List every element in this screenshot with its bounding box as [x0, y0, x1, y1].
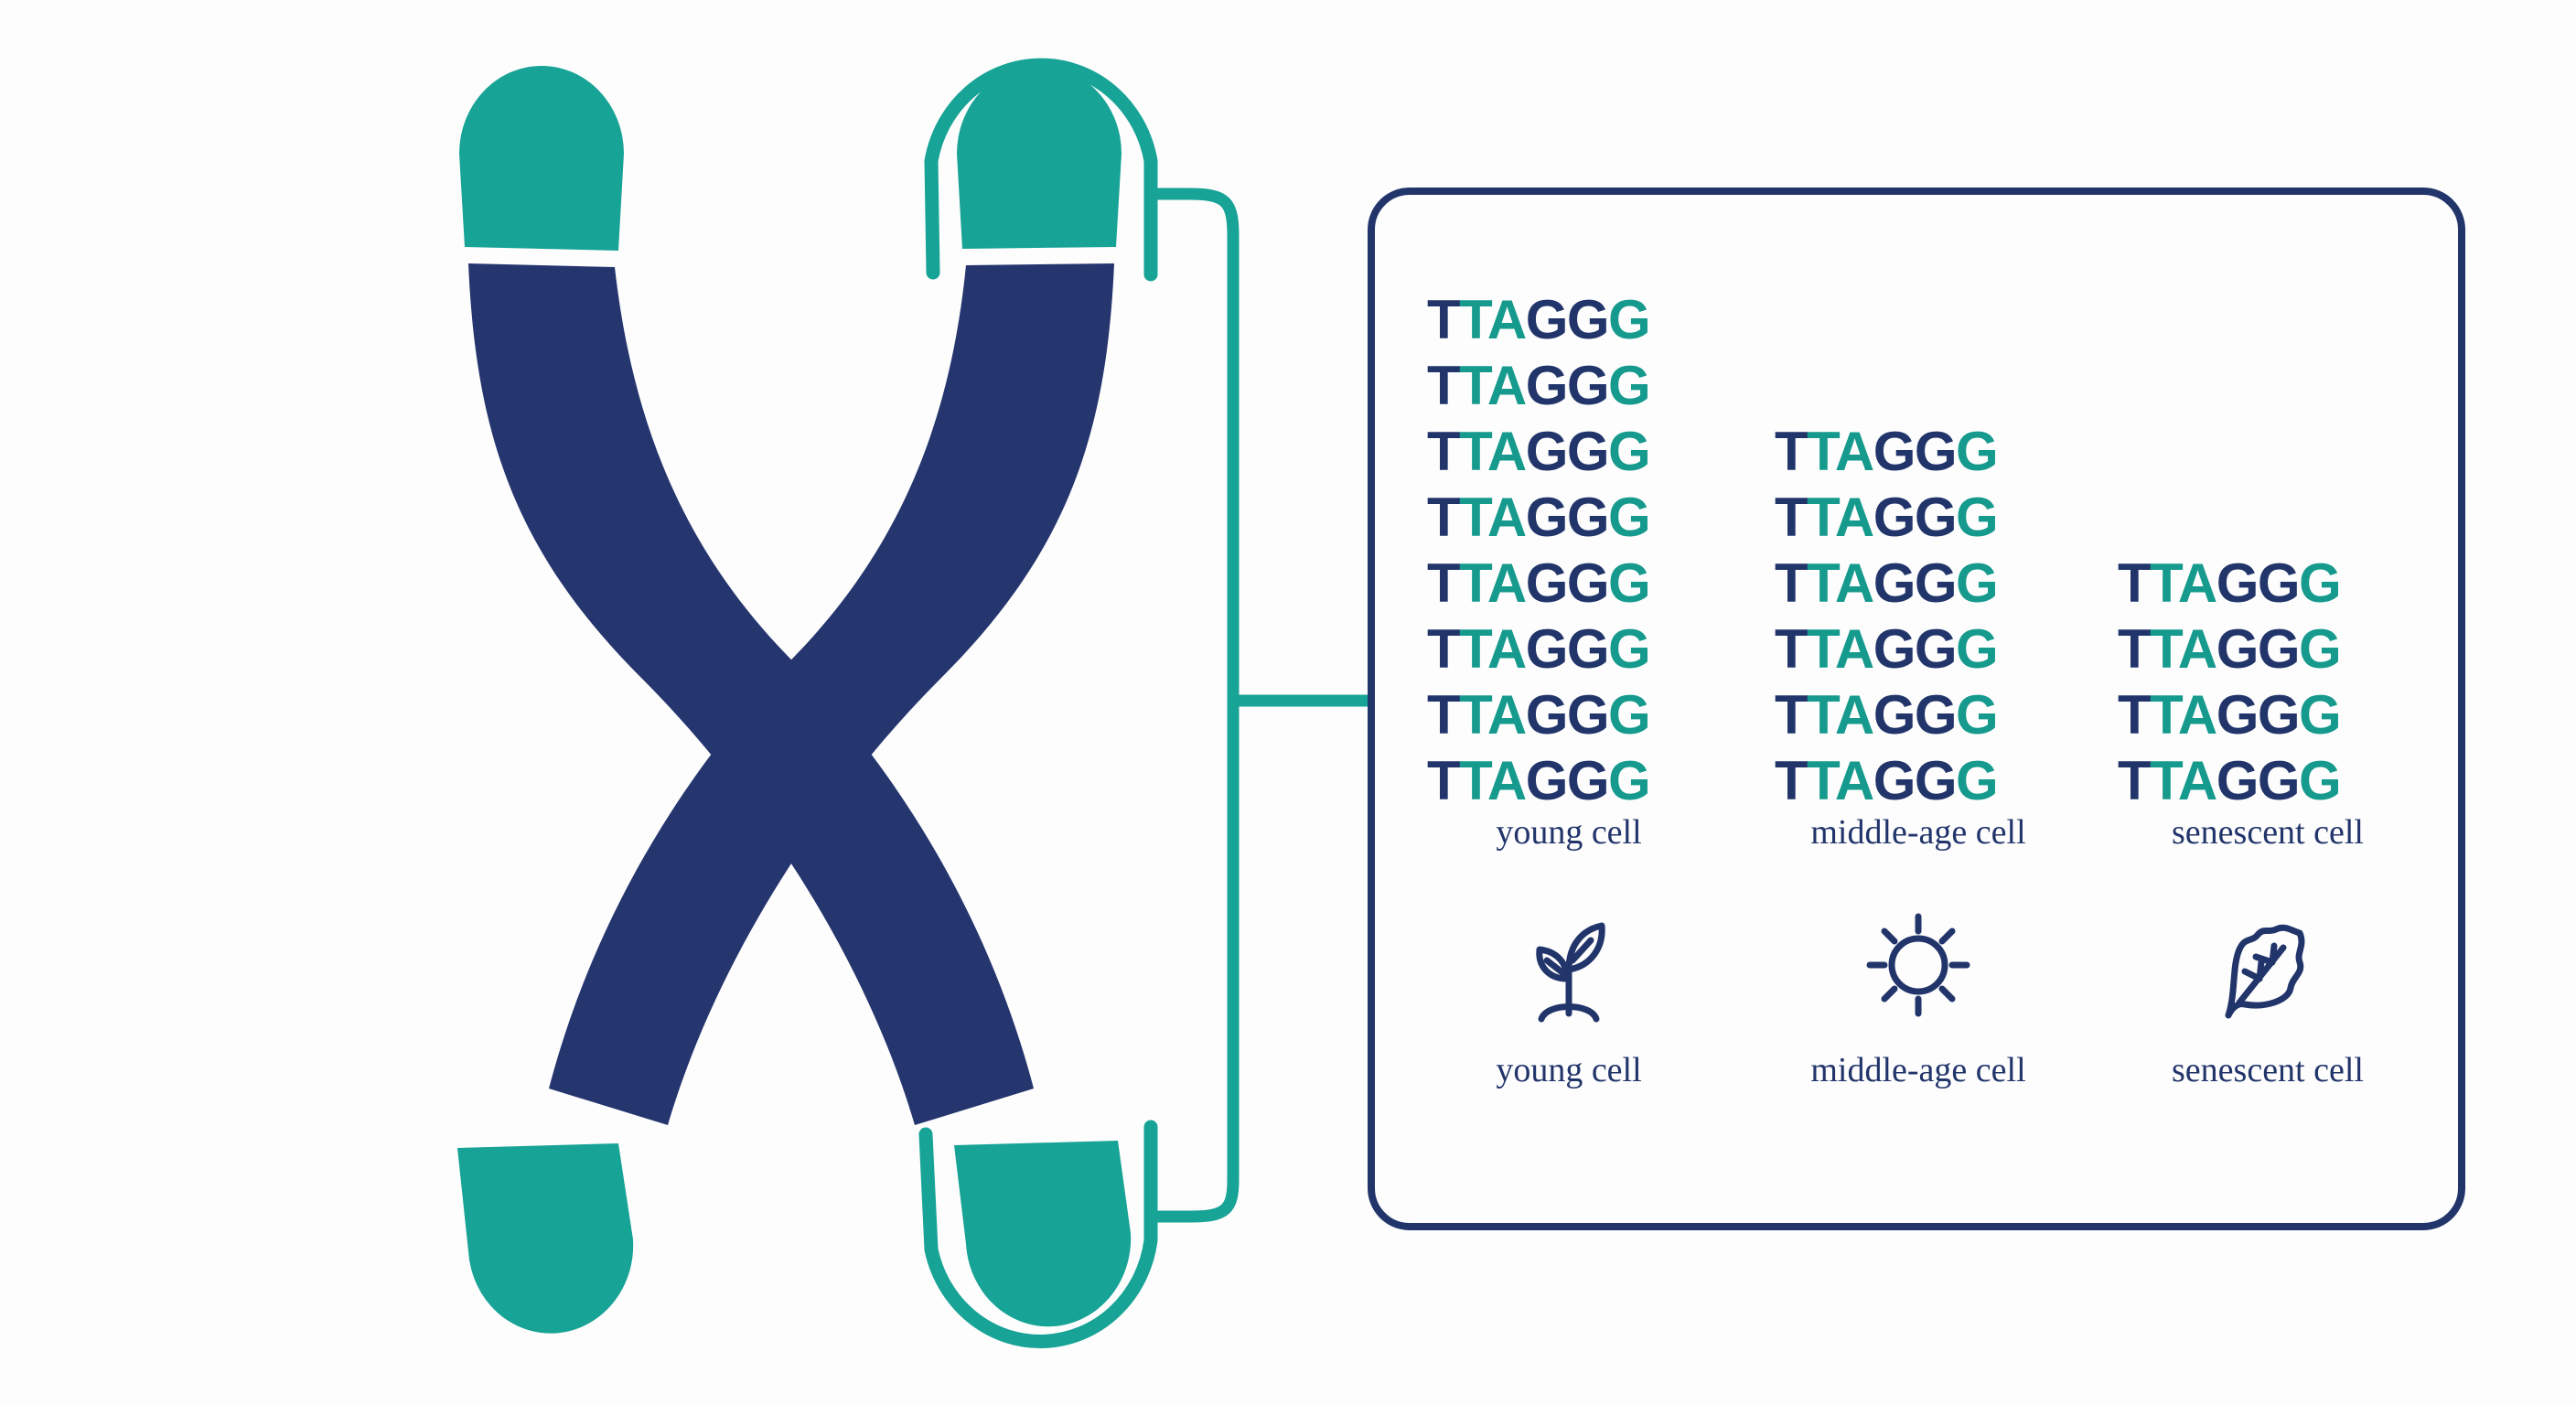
- base-letter: G: [2216, 618, 2258, 680]
- base-letter: G: [1608, 552, 1649, 614]
- base-letter: A: [1487, 289, 1526, 350]
- base-letter: T: [2118, 684, 2150, 745]
- sequence-repeat: TTAGGG: [1427, 748, 1711, 814]
- base-letter: T: [2118, 618, 2150, 680]
- base-letter: T: [1427, 552, 1459, 614]
- sequence-repeat: TTAGGG: [2118, 617, 2420, 682]
- caption-middle-age-bottom: middle-age cell: [1767, 1050, 2069, 1090]
- base-letter: G: [1526, 684, 1567, 745]
- base-letter: T: [2150, 684, 2178, 745]
- base-letter: G: [1608, 684, 1649, 745]
- base-letter: G: [2258, 552, 2299, 614]
- callout-connector: [1151, 194, 1372, 1217]
- base-letter: T: [1775, 421, 1807, 482]
- base-letter: T: [1807, 750, 1835, 811]
- base-letter: T: [1427, 684, 1459, 745]
- base-letter: A: [2178, 750, 2216, 811]
- base-letter: A: [1835, 618, 1873, 680]
- base-letter: G: [1608, 355, 1649, 416]
- icon-cell-young: [1427, 901, 1711, 1029]
- seedling-icon: [1514, 906, 1624, 1024]
- sequence-repeat: TTAGGG: [1775, 748, 2058, 814]
- sequence-column-young: TTAGGGTTAGGGTTAGGGTTAGGGTTAGGGTTAGGGTTAG…: [1427, 287, 1711, 814]
- base-letter: T: [1427, 618, 1459, 680]
- base-letter: A: [2178, 618, 2216, 680]
- base-letter: A: [1835, 421, 1873, 482]
- base-letter: G: [1956, 684, 1997, 745]
- telomere-cap-top-left: [459, 66, 624, 251]
- base-letter: T: [1807, 684, 1835, 745]
- base-letter: G: [1915, 552, 1956, 614]
- base-letter: G: [1526, 289, 1567, 350]
- base-letter: A: [1487, 355, 1526, 416]
- sequence-repeat: TTAGGG: [2118, 551, 2420, 617]
- base-letter: T: [1459, 552, 1487, 614]
- base-letter: T: [1459, 618, 1487, 680]
- base-letter: A: [2178, 552, 2216, 614]
- base-letter: G: [1915, 750, 1956, 811]
- base-letter: T: [1459, 487, 1487, 548]
- caption-middle-age-top: middle-age cell: [1767, 812, 2069, 853]
- base-letter: G: [1956, 487, 1997, 548]
- caption-senescent-bottom: senescent cell: [2117, 1050, 2419, 1090]
- sequence-repeat: TTAGGG: [1427, 617, 1711, 682]
- base-letter: A: [1835, 487, 1873, 548]
- base-letter: G: [1567, 355, 1608, 416]
- base-letter: G: [1915, 421, 1956, 482]
- sequence-repeat: TTAGGG: [1427, 287, 1711, 353]
- base-letter: A: [1487, 684, 1526, 745]
- base-letter: T: [1459, 750, 1487, 811]
- base-letter: T: [1775, 618, 1807, 680]
- base-letter: G: [1526, 355, 1567, 416]
- base-letter: G: [1873, 487, 1915, 548]
- base-letter: T: [1459, 684, 1487, 745]
- base-letter: G: [1526, 421, 1567, 482]
- base-letter: T: [1459, 289, 1487, 350]
- base-letter: T: [1459, 421, 1487, 482]
- base-letter: T: [1427, 487, 1459, 548]
- base-letter: A: [1487, 421, 1526, 482]
- base-letter: G: [1956, 552, 1997, 614]
- base-letter: G: [2299, 684, 2340, 745]
- base-letter: G: [1567, 552, 1608, 614]
- sequence-repeat: TTAGGG: [1427, 353, 1711, 419]
- base-letter: G: [1956, 750, 1997, 811]
- base-letter: G: [1567, 618, 1608, 680]
- base-letter: G: [1526, 552, 1567, 614]
- base-letter: G: [1915, 487, 1956, 548]
- base-letter: G: [2216, 552, 2258, 614]
- base-letter: G: [1956, 618, 1997, 680]
- base-letter: T: [1775, 750, 1807, 811]
- caption-row-top: young cell middle-age cell senescent cel…: [1427, 812, 2424, 853]
- sequence-repeat: TTAGGG: [1775, 485, 2058, 551]
- base-letter: A: [1835, 684, 1873, 745]
- base-letter: G: [1608, 618, 1649, 680]
- base-letter: G: [1873, 750, 1915, 811]
- sequence-repeat: TTAGGG: [1775, 551, 2058, 617]
- sequence-repeat: TTAGGG: [1427, 419, 1711, 485]
- sequence-columns: TTAGGGTTAGGGTTAGGGTTAGGGTTAGGGTTAGGGTTAG…: [1427, 247, 2415, 814]
- base-letter: G: [1567, 487, 1608, 548]
- base-letter: G: [1915, 618, 1956, 680]
- base-letter: G: [2258, 750, 2299, 811]
- sequence-column-senescent: TTAGGGTTAGGGTTAGGGTTAGGG: [2118, 551, 2420, 814]
- base-letter: G: [2299, 552, 2340, 614]
- chromosome-arms: [468, 263, 1114, 1125]
- withered-leaf-icon: [2208, 906, 2327, 1024]
- base-letter: G: [1873, 618, 1915, 680]
- base-letter: G: [1567, 289, 1608, 350]
- base-letter: A: [1835, 552, 1873, 614]
- base-letter: T: [1807, 487, 1835, 548]
- sequence-repeat: TTAGGG: [1775, 617, 2058, 682]
- sequence-repeat: TTAGGG: [2118, 748, 2420, 814]
- base-letter: G: [1608, 750, 1649, 811]
- sequence-repeat: TTAGGG: [1427, 551, 1711, 617]
- base-letter: G: [1873, 684, 1915, 745]
- sequence-repeat: TTAGGG: [1775, 419, 2058, 485]
- base-letter: T: [1775, 487, 1807, 548]
- base-letter: A: [1487, 487, 1526, 548]
- base-letter: A: [1487, 618, 1526, 680]
- sequence-repeat: TTAGGG: [2118, 682, 2420, 748]
- base-letter: A: [2178, 684, 2216, 745]
- base-letter: G: [1608, 421, 1649, 482]
- base-letter: T: [1775, 684, 1807, 745]
- base-letter: G: [2258, 618, 2299, 680]
- base-letter: A: [1835, 750, 1873, 811]
- base-letter: A: [1487, 552, 1526, 614]
- base-letter: G: [1567, 750, 1608, 811]
- caption-young-top: young cell: [1427, 812, 1711, 853]
- base-letter: T: [2150, 618, 2178, 680]
- base-letter: T: [1807, 552, 1835, 614]
- base-letter: G: [1873, 421, 1915, 482]
- base-letter: G: [1526, 750, 1567, 811]
- base-letter: T: [1427, 355, 1459, 416]
- sequence-column-middle-age: TTAGGGTTAGGGTTAGGGTTAGGGTTAGGGTTAGGG: [1775, 419, 2058, 814]
- base-letter: T: [1427, 421, 1459, 482]
- base-letter: T: [1427, 289, 1459, 350]
- base-letter: G: [2216, 684, 2258, 745]
- base-letter: G: [2216, 750, 2258, 811]
- base-letter: T: [1807, 618, 1835, 680]
- caption-row-bottom: young cell middle-age cell senescent cel…: [1427, 1050, 2424, 1090]
- telomere-cap-top-right: [957, 66, 1122, 249]
- base-letter: G: [1608, 487, 1649, 548]
- base-letter: G: [1956, 421, 1997, 482]
- base-letter: G: [1873, 552, 1915, 614]
- telomere-shortening-diagram: TTAGGGTTAGGGTTAGGGTTAGGGTTAGGGTTAGGGTTAG…: [0, 0, 2576, 1405]
- base-letter: T: [2150, 750, 2178, 811]
- base-letter: T: [2118, 552, 2150, 614]
- base-letter: G: [2299, 618, 2340, 680]
- base-letter: G: [2299, 750, 2340, 811]
- base-letter: A: [1487, 750, 1526, 811]
- base-letter: G: [1526, 487, 1567, 548]
- base-letter: G: [1608, 289, 1649, 350]
- base-letter: T: [2118, 750, 2150, 811]
- base-letter: G: [1567, 421, 1608, 482]
- base-letter: G: [1526, 618, 1567, 680]
- caption-senescent-top: senescent cell: [2117, 812, 2419, 853]
- sun-icon: [1861, 907, 1976, 1023]
- base-letter: T: [1807, 421, 1835, 482]
- caption-young-bottom: young cell: [1427, 1050, 1711, 1090]
- sequence-repeat: TTAGGG: [1427, 682, 1711, 748]
- connector-path: [1151, 194, 1233, 1217]
- base-letter: G: [2258, 684, 2299, 745]
- base-letter: T: [2150, 552, 2178, 614]
- base-letter: G: [1567, 684, 1608, 745]
- base-letter: T: [1775, 552, 1807, 614]
- icon-cell-middle-age: [1767, 901, 2069, 1029]
- sequence-repeat: TTAGGG: [1427, 485, 1711, 551]
- base-letter: T: [1459, 355, 1487, 416]
- sequence-repeat: TTAGGG: [1775, 682, 2058, 748]
- cell-state-icon-row: [1427, 901, 2424, 1029]
- base-letter: T: [1427, 750, 1459, 811]
- telomere-cap-bottom-right: [954, 1141, 1131, 1326]
- telomere-cap-bottom-left: [457, 1143, 633, 1334]
- base-letter: G: [1915, 684, 1956, 745]
- icon-cell-senescent: [2117, 901, 2419, 1029]
